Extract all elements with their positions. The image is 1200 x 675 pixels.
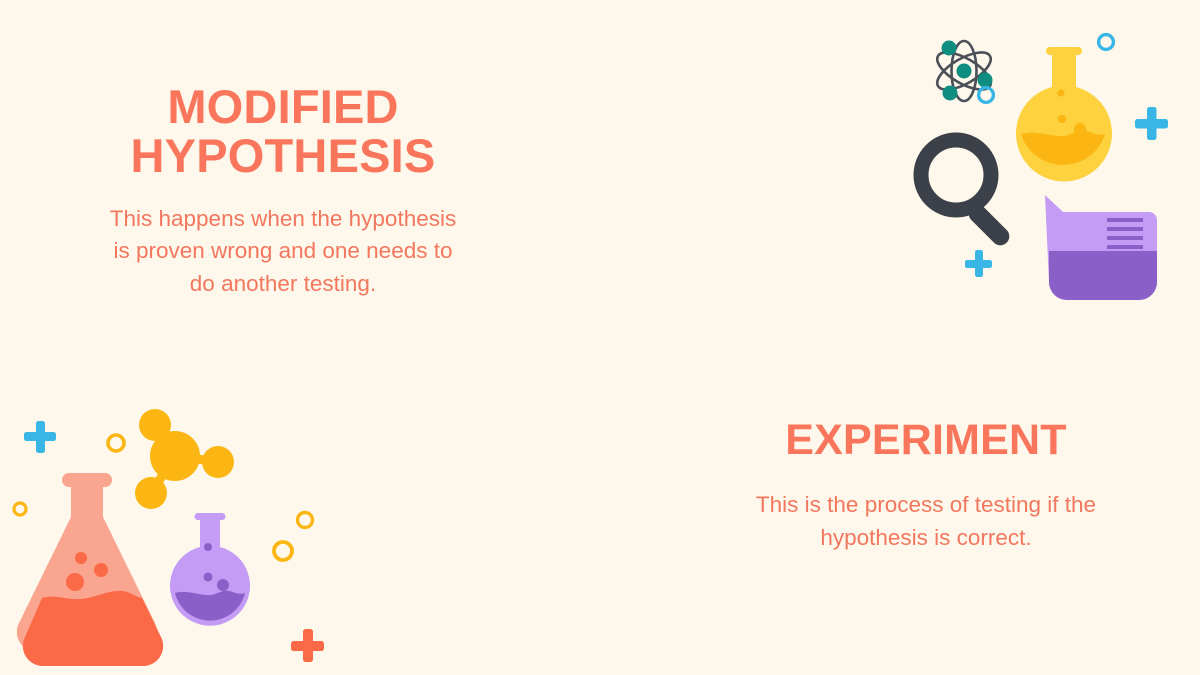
experiment-body: This is the process of testing if the hy…	[690, 489, 1162, 554]
atom-electron-icon	[942, 41, 957, 56]
modified-hypothesis-body: This happens when the hypothesis is prov…	[48, 203, 518, 301]
body-line: is proven wrong and one needs to	[48, 235, 518, 268]
erlenmeyer-liquid	[23, 591, 163, 666]
title-line: MODIFIED	[48, 82, 518, 131]
science-lab-illustration-top-right	[900, 10, 1190, 310]
yellow-circle-outline-icon	[298, 513, 313, 528]
beaker-icon	[1045, 195, 1157, 300]
modified-hypothesis-text-block: MODIFIED HYPOTHESIS This happens when th…	[48, 82, 518, 301]
title-line: HYPOTHESIS	[48, 131, 518, 180]
yellow-circle-outline-icon	[14, 503, 26, 515]
magnifier-lens	[921, 140, 991, 210]
title-line: EXPERIMENT	[690, 418, 1162, 463]
bubble-icon	[204, 543, 212, 551]
coral-plus-icon	[291, 629, 324, 662]
blue-plus-icon	[965, 250, 992, 277]
slide-canvas: MODIFIED HYPOTHESIS This happens when th…	[0, 0, 1200, 675]
magnifying-glass-icon	[921, 140, 1013, 249]
molecule-atom	[139, 409, 171, 441]
atom-icon	[932, 41, 996, 102]
body-line: This happens when the hypothesis	[48, 203, 518, 236]
bubble-icon	[75, 552, 87, 564]
bubble-icon	[1074, 123, 1086, 135]
yellow-circle-outline-icon	[274, 542, 292, 560]
atom-electron-icon	[943, 86, 958, 101]
molecule-atom	[202, 446, 234, 478]
body-line: do another testing.	[48, 268, 518, 301]
bubble-icon	[66, 573, 84, 591]
blue-plus-icon	[1135, 107, 1168, 140]
magnifier-glare	[940, 155, 956, 162]
experiment-text-block: EXPERIMENT This is the process of testin…	[690, 418, 1162, 554]
bubble-icon	[94, 563, 108, 577]
science-lab-illustration-bottom-left	[0, 395, 340, 675]
round-flask-icon	[170, 513, 250, 626]
atom-nucleus-icon	[957, 64, 972, 79]
blue-plus-icon	[24, 421, 56, 453]
magnifier-handle	[965, 201, 1013, 249]
bubble-icon	[217, 579, 229, 591]
bubble-icon	[204, 573, 213, 582]
body-line: hypothesis is correct.	[690, 522, 1162, 555]
body-line: This is the process of testing if the	[690, 489, 1162, 522]
experiment-title: EXPERIMENT	[690, 418, 1162, 463]
molecule-atom	[135, 477, 167, 509]
molecule-icon	[135, 409, 234, 509]
bubble-icon	[1058, 115, 1066, 123]
yellow-circle-outline-icon	[108, 435, 124, 451]
beaker-liquid	[1049, 251, 1157, 300]
round-flask-icon	[1016, 47, 1112, 181]
modified-hypothesis-title: MODIFIED HYPOTHESIS	[48, 82, 518, 181]
atom-electron-icon	[978, 73, 993, 88]
bubble-icon	[1057, 89, 1064, 96]
blue-circle-outline-icon	[1099, 35, 1114, 50]
